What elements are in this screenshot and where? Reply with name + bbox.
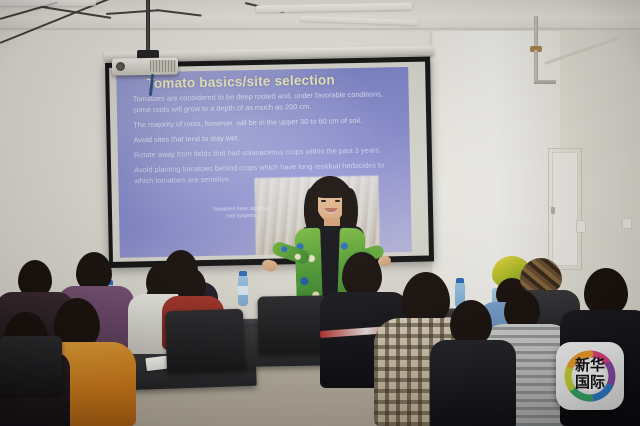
attendee-head [584,268,628,316]
slide-bullet: Tomatoes are considered to be deep roote… [133,89,401,116]
slide-bullet: Rotate away from fields that had solanac… [134,145,402,161]
slide-bullet: The majority of roots, however, will be … [133,115,401,131]
door-knob[interactable] [551,207,555,214]
water-bottle-cap [456,278,464,283]
photo-canvas: Tomato basics/site selection Tomatoes ar… [0,0,640,426]
classroom-door[interactable] [548,148,582,270]
chair-back [165,309,245,374]
presenter-eye [321,200,326,202]
light-switch-plate[interactable] [622,218,632,229]
slide-bullet: Avoid sites that tend to stay wet. [133,130,401,146]
wall-conduit-horizontal [534,80,556,84]
attendee-body [430,340,516,426]
watermark-line-1: 新华 [556,357,624,374]
presenter-eye [335,200,340,202]
ceiling-light-fixture [0,0,96,6]
headwrap [520,258,562,294]
light-switch-plate[interactable] [576,220,586,233]
slide-title: Tomato basics/site selection [146,71,402,91]
water-bottle-cap [239,271,247,276]
projector-lens-icon [116,62,125,71]
watermark-text: 新华 国际 [556,357,624,390]
ceiling-edge [0,28,640,31]
projector-mount-pole [146,0,150,52]
slide-photo-caption: Tomatoes have vigorous root systems [211,206,271,221]
watermark-line-2: 国际 [556,374,624,390]
wall-conduit-vertical [534,50,538,84]
projector-vent [150,60,176,72]
chair-back [257,295,328,354]
xinhua-international-logo: 新华 国际 [556,342,624,410]
door-panel [552,152,578,266]
projection-screen: Tomato basics/site selection Tomatoes ar… [105,56,434,267]
chair-back [0,336,62,394]
water-bottle-label [238,286,248,295]
